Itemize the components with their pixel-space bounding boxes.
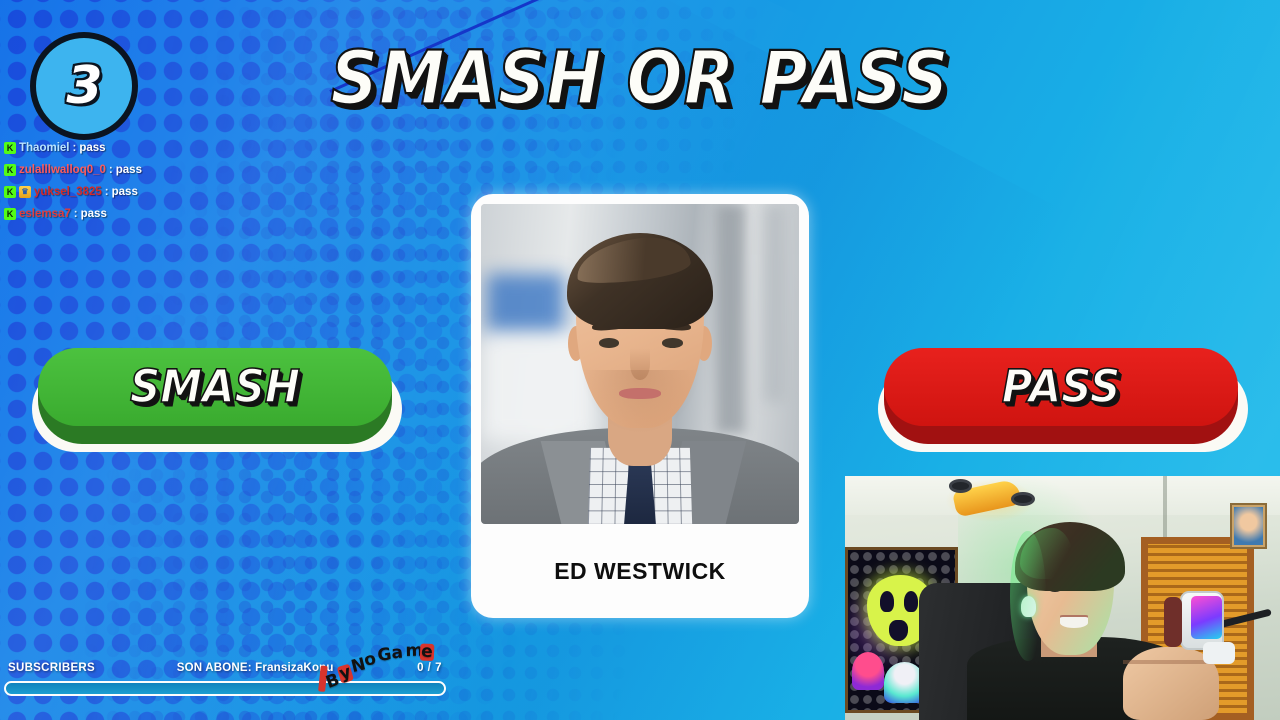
chat-message: K zulalllwalloq0_0 : pass (4, 159, 334, 181)
photo-background-pillar (716, 204, 745, 434)
photo-background-blue-blur (487, 274, 563, 338)
chat-separator: : (105, 186, 109, 198)
pass-button-label: PASS (1002, 364, 1120, 409)
smash-button-face: SMASH (38, 348, 392, 426)
microphone (1163, 591, 1259, 674)
chat-username: yuksel_3825 (34, 186, 102, 198)
subscriber-goal-bar: SUBSCRIBERS SON ABONE: FransizaKonu 0 / … (0, 659, 450, 696)
subscriber-count-goal: 7 (435, 662, 442, 674)
chat-message: K ♛ yuksel_3825 : pass (4, 181, 334, 203)
chat-text: pass (79, 142, 105, 154)
kick-badge-icon: K (4, 208, 16, 220)
last-subscriber-label: SON ABONE: FransizaKonu (137, 662, 334, 674)
streamer-smile (1060, 617, 1088, 628)
subscriber-count-current: 0 (417, 662, 424, 674)
chat-text: pass (81, 208, 107, 220)
photo-nose (630, 348, 649, 380)
framed-picture (1230, 503, 1267, 549)
pass-button[interactable]: PASS (878, 348, 1248, 458)
pass-button-face: PASS (884, 348, 1238, 426)
chat-separator: : (72, 142, 76, 154)
subscriber-count-separator: / (428, 662, 432, 674)
kick-badge-icon: K (4, 186, 16, 198)
framed-picture-image (1234, 507, 1263, 545)
chat-separator: : (74, 208, 78, 220)
celebrity-name: ED WESTWICK (481, 524, 799, 618)
smash-button-label: SMASH (130, 364, 300, 409)
celebrity-photo (481, 204, 799, 524)
subscriber-count: 0 / 7 (417, 662, 442, 674)
stream-overlay-stage: 3 K Thaomiel : pass K zulalllwalloq0_0 :… (0, 0, 1280, 720)
streamer-head (1010, 525, 1127, 676)
photo-eye-left (599, 338, 620, 348)
chat-text: pass (112, 186, 138, 198)
microphone-rgb-grille (1191, 596, 1222, 639)
chat-separator: : (109, 164, 113, 176)
chat-message: K eslemsa7 : pass (4, 203, 334, 225)
mushroom-icon-left (852, 652, 884, 690)
kick-badge-icon: K (4, 164, 16, 176)
webcam-feed[interactable] (845, 476, 1280, 720)
subscribers-label: SUBSCRIBERS (8, 662, 95, 674)
chat-feed: K Thaomiel : pass K zulalllwalloq0_0 : p… (4, 137, 334, 225)
chat-text: pass (116, 164, 142, 176)
streamer-rim-light (1010, 531, 1045, 661)
chat-username: eslemsa7 (19, 208, 71, 220)
ghost-mouth (889, 620, 908, 641)
chat-username: zulalllwalloq0_0 (19, 164, 106, 176)
microphone-side-panel (1164, 597, 1181, 647)
lamp-wheel-front (949, 479, 973, 493)
ghost-eye-left (880, 591, 894, 612)
subscriber-progress-track (4, 681, 446, 696)
microphone-mount (1203, 642, 1236, 664)
photo-background-pillar-2 (764, 204, 786, 402)
chat-message: K Thaomiel : pass (4, 137, 334, 159)
ghost-eye-right (904, 591, 918, 612)
photo-lips (619, 388, 660, 399)
motorcycle-lamp (945, 476, 1036, 527)
lamp-wheel-rear (1011, 492, 1035, 506)
subscriber-badge-icon: ♛ (19, 186, 31, 198)
kick-badge-icon: K (4, 142, 16, 154)
smash-button[interactable]: SMASH (32, 348, 402, 458)
chat-username: Thaomiel (19, 142, 69, 154)
photo-eye-right (662, 338, 683, 348)
subscriber-goal-row: SUBSCRIBERS SON ABONE: FransizaKonu 0 / … (0, 659, 450, 677)
page-title: SMASH OR PASS (0, 42, 1280, 116)
celebrity-card: ED WESTWICK (471, 194, 809, 618)
